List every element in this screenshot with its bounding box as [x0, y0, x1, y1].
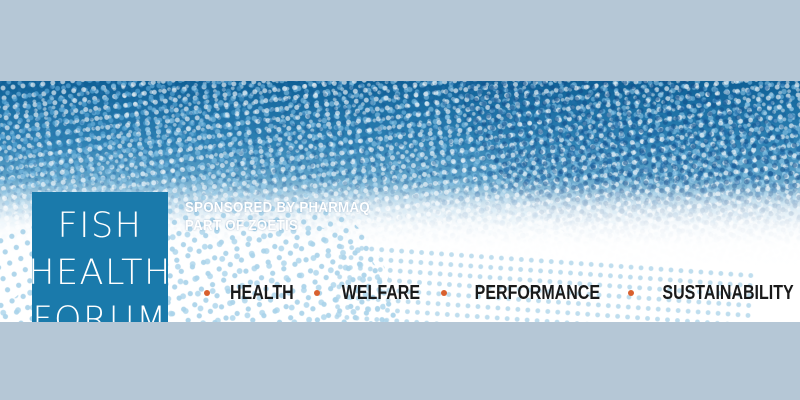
banner-page: FISH HEALTH FORUM SPONSORED BY PHARMAQ P… — [0, 0, 800, 400]
sponsor-text: SPONSORED BY PHARMAQ PART OF ZOETIS — [185, 198, 370, 236]
fish-health-forum-banner: FISH HEALTH FORUM SPONSORED BY PHARMAQ P… — [0, 81, 800, 322]
tagline-row: HEALTH WELFARE PERFORMANCE SUSTAINABILIT… — [190, 281, 800, 305]
logo-line-health: HEALTH — [28, 251, 172, 295]
tagline-separator-dot — [441, 290, 447, 296]
tagline-separator-dot — [628, 290, 634, 296]
sponsor-line-1: SPONSORED BY PHARMAQ — [185, 198, 370, 217]
logo-line-forum: FORUM — [32, 298, 167, 322]
tagline-separator-dot — [314, 290, 320, 296]
logo-line-fish: FISH — [58, 204, 143, 248]
tagline-item-health: HEALTH — [230, 282, 294, 304]
sponsor-line-2: PART OF ZOETIS — [185, 216, 370, 235]
tagline-separator-dot — [204, 290, 210, 296]
tagline-item-performance: PERFORMANCE — [475, 282, 600, 304]
tagline-item-welfare: WELFARE — [341, 282, 419, 304]
fish-health-forum-logo[interactable]: FISH HEALTH FORUM — [32, 192, 168, 322]
tagline-item-sustainability: SUSTAINABILITY — [662, 282, 793, 304]
